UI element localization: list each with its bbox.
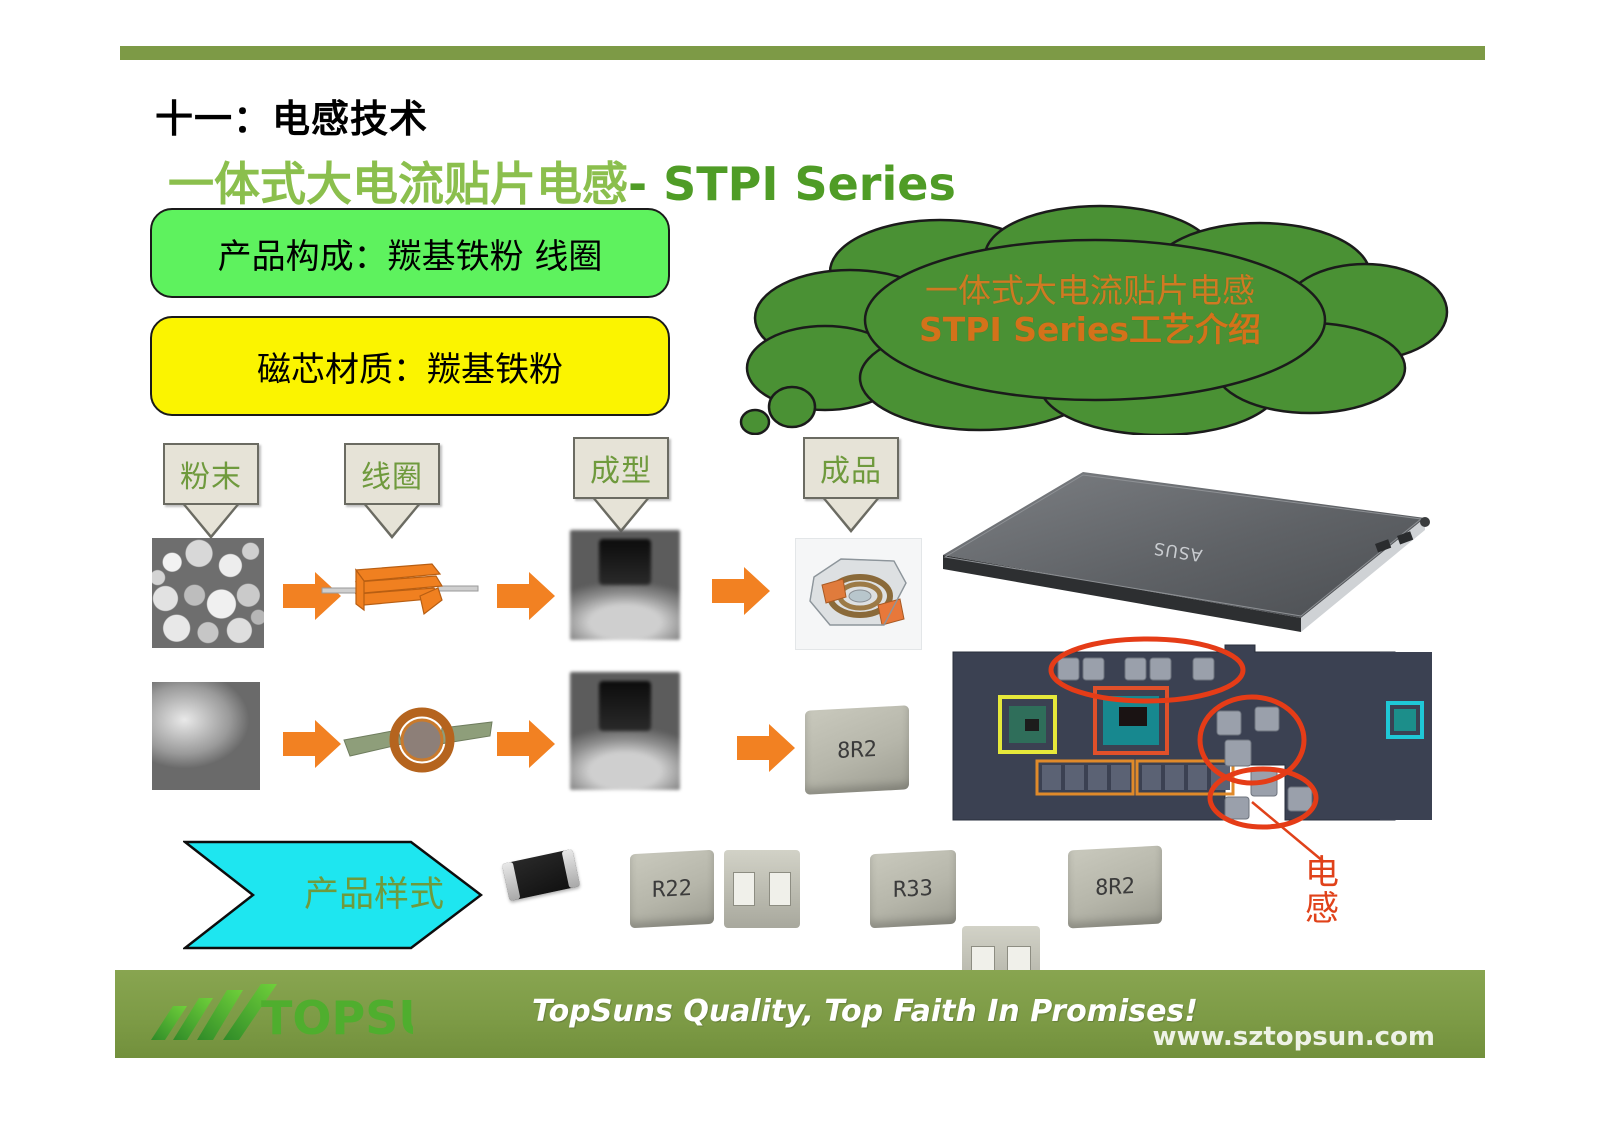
step-label-molding: 成型 bbox=[573, 437, 669, 499]
thought-cloud-callout: 一体式大电流贴片电感 STPI Series工艺介绍 bbox=[730, 200, 1460, 435]
finished-inductor-marking: 8R2 bbox=[805, 705, 909, 794]
slide-canvas: 十一：电感技术 一体式大电流贴片电感- STPI Series 产品构成：羰基铁… bbox=[0, 0, 1600, 1131]
step-label-coil: 线圈 bbox=[344, 443, 440, 505]
flow-arrow-2-icon bbox=[497, 570, 555, 622]
annotation-inductor-label: 电感 bbox=[1305, 856, 1345, 927]
chip-capacitor-sample bbox=[502, 849, 580, 901]
laptop-motherboard-photo bbox=[925, 615, 1435, 830]
step-box-coil: 线圈 bbox=[344, 443, 440, 541]
cloud-text: 一体式大电流贴片电感 STPI Series工艺介绍 bbox=[825, 272, 1355, 350]
step-arrow-coil-icon bbox=[344, 505, 440, 541]
asus-laptop-photo: ASUS bbox=[905, 450, 1445, 640]
step-arrow-finished-icon bbox=[803, 499, 899, 535]
callout-core-material: 磁芯材质：羰基铁粉 bbox=[150, 316, 670, 416]
topsun-logo-text: TOPSUN bbox=[261, 991, 413, 1045]
molding-press-photo-1 bbox=[570, 530, 680, 640]
flat-wire-coil-illustration bbox=[320, 552, 480, 632]
top-divider-rule bbox=[120, 46, 1485, 60]
powder-sem-photo bbox=[152, 538, 264, 648]
flow-arrow-6-icon bbox=[737, 722, 795, 774]
footer-banner: TOPSUN TopSuns Quality, Top Faith In Pro… bbox=[115, 970, 1485, 1058]
inductor-sample-r22-marking: R22 bbox=[630, 850, 714, 928]
flow-arrow-5-icon bbox=[497, 718, 555, 770]
finished-inductor-8r2: 8R2 bbox=[805, 708, 909, 792]
step-box-finished: 成品 bbox=[803, 437, 899, 535]
inductor-sample-r33: R33 bbox=[870, 852, 956, 926]
product-styles-banner: 产品样式 bbox=[183, 840, 483, 950]
step-box-molding: 成型 bbox=[573, 437, 669, 535]
copper-coil-photo bbox=[340, 700, 500, 780]
topsun-logo-icon: TOPSUN bbox=[143, 980, 413, 1046]
step-arrow-powder-icon bbox=[163, 505, 259, 541]
step-box-powder: 粉末 bbox=[163, 443, 259, 541]
footer-url[interactable]: www.sztopsun.com bbox=[1152, 1022, 1435, 1052]
molding-press-photo-2 bbox=[570, 672, 680, 790]
slide-kicker: 十一：电感技术 bbox=[155, 88, 428, 143]
inductor-sample-8r2: 8R2 bbox=[1068, 848, 1162, 926]
cloud-text-line1: 一体式大电流贴片电感 bbox=[825, 272, 1355, 311]
step-label-powder: 粉末 bbox=[163, 443, 259, 505]
inductor-sample-r33-marking: R33 bbox=[870, 850, 956, 929]
inductor-sample-r22-side bbox=[724, 850, 800, 928]
flow-arrow-3-icon bbox=[712, 565, 770, 617]
cloud-text-line2: STPI Series工艺介绍 bbox=[825, 311, 1355, 350]
callout-composition: 产品构成：羰基铁粉 线圈 bbox=[150, 208, 670, 298]
inductor-sample-8r2-marking: 8R2 bbox=[1068, 846, 1162, 929]
carbonyl-iron-sem-photo bbox=[152, 682, 260, 790]
footer-tagline: TopSuns Quality, Top Faith In Promises! bbox=[515, 994, 1215, 1029]
topsun-logo: TOPSUN bbox=[143, 980, 413, 1046]
product-styles-label: 产品样式 bbox=[279, 866, 469, 917]
step-label-finished: 成品 bbox=[803, 437, 899, 499]
page-title-cn: 一体式大电流贴片电感 bbox=[168, 157, 628, 211]
inductor-sample-r22: R22 bbox=[630, 852, 714, 926]
inductor-cad-diagram bbox=[795, 538, 922, 650]
flow-arrow-4-icon bbox=[283, 718, 341, 770]
